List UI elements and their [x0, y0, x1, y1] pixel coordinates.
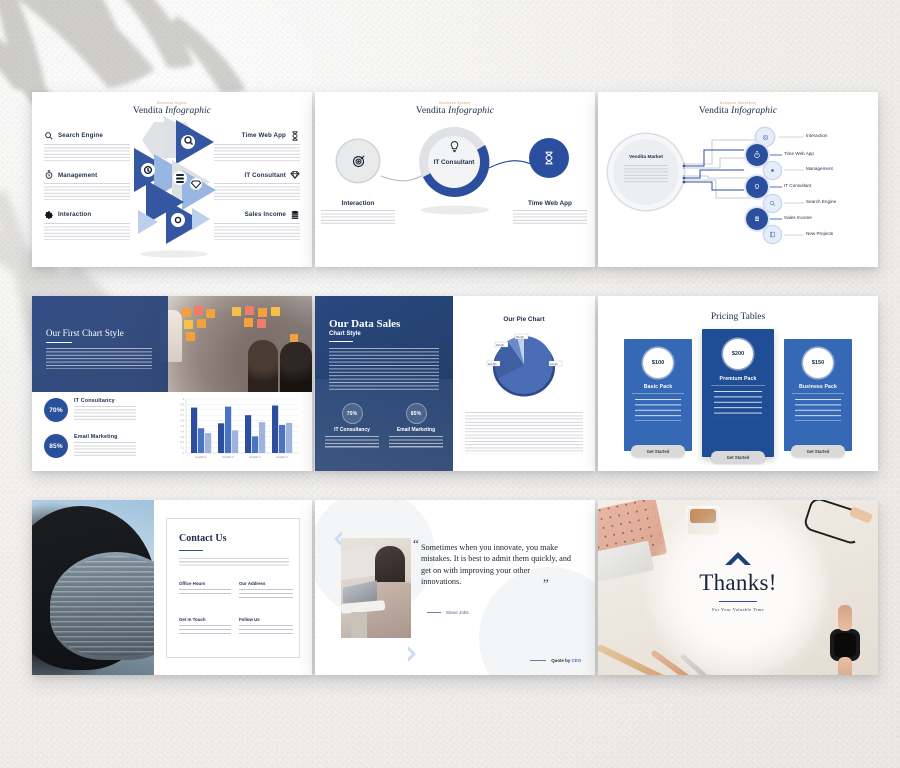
network-label-new-projects: New Projects [806, 231, 833, 236]
feature-sales-income[interactable]: Sales Income [214, 209, 300, 240]
stat-label: IT Consultancy [325, 427, 379, 433]
svg-text:0: 0 [183, 452, 185, 455]
close-quote-icon: ” [543, 576, 549, 592]
title-underline [329, 341, 353, 342]
slide3-brand-italic: Infographic [731, 106, 777, 116]
plan-divider [792, 393, 844, 394]
svg-text:0.9: 0.9 [181, 403, 185, 406]
stat-body-text [74, 406, 136, 422]
contact-title: Contact Us [179, 533, 289, 544]
gear-icon [44, 210, 54, 220]
stat-it-consultancy[interactable]: 70% IT Consultancy [325, 404, 379, 448]
contact-block-follow-us: Follow Us [239, 617, 293, 637]
stat-body-text [325, 436, 379, 448]
block-lines [179, 589, 231, 597]
stat-it-consultancy[interactable]: 70% IT Consultancy [44, 398, 136, 422]
slide-network-map[interactable]: Business Marketing Vendita Infographic V… [598, 92, 878, 267]
architecture-photo [32, 500, 154, 675]
feature-search-engine[interactable]: Search Engine [44, 130, 130, 161]
svg-text:0.6: 0.6 [181, 420, 185, 423]
pricing-card-premium[interactable]: $200 Premium Pack Get Started [702, 329, 774, 457]
slide3-eyebrow: Business Marketing [598, 101, 878, 105]
pie-chart-svg: 1st Qtr 2nd Qtr 3rd Qtr 4th Qtr [465, 327, 583, 401]
stat-body-text [74, 442, 136, 458]
magnifier-icon [769, 200, 776, 207]
network-label-it-consultant: IT Consultant [784, 183, 811, 188]
feature-label: Search Engine [58, 132, 103, 139]
network-node-new-projects[interactable] [764, 226, 781, 243]
magnifier-icon [44, 131, 54, 141]
node-body-text [321, 210, 395, 226]
pricing-title: Pricing Tables [598, 312, 878, 322]
node-leader-line [784, 202, 804, 204]
block-lines [239, 589, 293, 601]
network-node-sales-income[interactable] [746, 208, 768, 230]
svg-text:1st Qtr: 1st Qtr [550, 362, 558, 366]
quote-footer: Quote by CEO [530, 658, 581, 663]
server-icon [753, 215, 761, 223]
block-heading: Follow Us [239, 617, 293, 622]
stat-value: 70% [44, 398, 68, 422]
feature-label: Interaction [58, 211, 91, 218]
pricing-card-basic[interactable]: $100 Basic Pack Get Started [624, 339, 692, 451]
svg-text:0.1: 0.1 [181, 447, 185, 450]
process-label-interaction: Interaction [319, 200, 397, 226]
feature-body-text [44, 144, 130, 161]
stat-value: 85% [407, 404, 426, 423]
quote-block: “ Sometimes when you innovate, you make … [421, 542, 571, 588]
node-leader-line [784, 234, 804, 236]
feature-management[interactable]: Management [44, 170, 130, 201]
feature-interaction[interactable]: Interaction [44, 209, 130, 240]
svg-text:Graphic 2: Graphic 2 [222, 455, 234, 459]
server-icon [290, 210, 300, 220]
contact-card: Contact Us Office Hours Our Address Get … [166, 518, 300, 658]
feature-body-text [44, 183, 130, 200]
network-label-sales-income: Sales Income [784, 215, 812, 220]
network-node-time-web-app[interactable] [746, 144, 768, 166]
plan-name: Basic Pack [624, 384, 692, 390]
block-lines [179, 625, 231, 637]
arrow-infographic-artwork [124, 114, 220, 259]
thanks-block: Thanks! For Your Valuable Time [598, 552, 878, 612]
quote-author: Steve Jobs [427, 610, 469, 615]
svg-text:0.3: 0.3 [181, 436, 185, 439]
network-hub[interactable]: Vendita Market [608, 134, 684, 210]
price-amount: $150 [803, 348, 833, 378]
contact-block-our-address: Our Address [239, 581, 293, 601]
slide3-title: Vendita Infographic [598, 106, 878, 116]
slide-infographic-arrows[interactable]: Business Digital Vendita Infographic Sea… [32, 92, 312, 267]
svg-text:0.2: 0.2 [181, 441, 185, 444]
node-body-text [513, 210, 587, 226]
svg-text:Graphic 4: Graphic 4 [276, 455, 288, 459]
contact-block-get-in-touch: Get In Touch [179, 617, 231, 637]
slide-bar-chart[interactable]: Our First Chart Style 70% IT Consultancy… [32, 296, 312, 471]
svg-text:0.4: 0.4 [181, 430, 185, 433]
contact-intro-text [179, 558, 289, 566]
contact-block-office-hours: Office Hours [179, 581, 231, 597]
contact-header: Contact Us [179, 533, 289, 566]
slide1-eyebrow: Business Digital [32, 101, 312, 105]
book-icon [769, 231, 776, 238]
slide-circles-process[interactable]: Business System Vendita Infographic Inte… [315, 92, 595, 267]
network-node-search-engine[interactable] [764, 195, 781, 212]
svg-text:Graphic 1: Graphic 1 [195, 455, 207, 459]
price-amount: $200 [723, 339, 753, 369]
author-name: Steve Jobs [446, 610, 469, 615]
feature-time-web-app[interactable]: Time Web App [214, 130, 300, 161]
svg-text:4th Qtr: 4th Qtr [516, 335, 524, 339]
thanks-title: Thanks! [598, 570, 878, 596]
person-photo [341, 538, 411, 638]
svg-text:Graphic 3: Graphic 3 [249, 455, 261, 459]
slide4-title: Our First Chart Style [46, 328, 152, 338]
stat-email-marketing[interactable]: 85% Email Marketing [44, 434, 136, 458]
thanks-underline [719, 601, 757, 602]
stat-email-marketing[interactable]: 85% Email Marketing [389, 404, 443, 448]
slide1-right-features: Time Web App IT Consultant S [214, 130, 300, 249]
plan-name: Business Pack [784, 384, 852, 390]
slide1-left-features: Search Engine Management Int [44, 130, 130, 249]
slide-thanks[interactable]: Thanks! For Your Valuable Time [598, 500, 878, 675]
title-underline [46, 342, 72, 343]
data-sales-panel: Our Data Sales Chart Style 70% IT Consul… [315, 296, 453, 471]
stat-label: Email Marketing [389, 427, 443, 433]
thanks-subtitle: For Your Valuable Time [598, 607, 878, 612]
block-heading: Office Hours [179, 581, 231, 586]
quote-by-accent: CEO [571, 658, 581, 663]
get-started-button[interactable]: Get Started [631, 445, 685, 457]
block-heading: Our Address [239, 581, 293, 586]
svg-text:0.7: 0.7 [181, 414, 185, 417]
feature-label: IT Consultant [245, 172, 286, 179]
stat-value: 85% [44, 434, 68, 458]
slide4-title-block: Our First Chart Style [46, 328, 152, 369]
open-quote-icon: “ [413, 536, 419, 552]
slide-quote[interactable]: “ Sometimes when you innovate, you make … [315, 500, 595, 675]
slide5-body-text [329, 348, 439, 390]
diamond-icon [290, 170, 300, 180]
get-started-button[interactable]: Get Started [791, 445, 845, 457]
hub-body-text [624, 165, 668, 183]
node-leader-line [770, 154, 782, 156]
plan-features [635, 399, 681, 421]
stopwatch-icon [753, 151, 761, 159]
slide3-brand: Vendita [699, 106, 729, 116]
slide-grid: Business Digital Vendita Infographic Sea… [32, 92, 878, 675]
plan-features [795, 399, 841, 421]
plan-name: Premium Pack [702, 376, 774, 382]
feature-body-text [44, 223, 130, 240]
target-icon [762, 134, 769, 141]
feature-label: Management [58, 172, 97, 179]
bar-chart-svg: 00.10.2 0.30.40.5 0.60.70.8 0.91 [172, 397, 300, 461]
slide2-body-placeholder [315, 110, 595, 174]
feature-label: Time Web App [242, 132, 286, 139]
quote-by-prefix: Quote by [551, 658, 571, 663]
network-label-time-web-app: Time Web App [784, 151, 814, 156]
pricing-card-business[interactable]: $150 Business Pack Get Started [784, 339, 852, 451]
node-leader-line [784, 169, 804, 171]
slide5-subtitle: Chart Style [329, 331, 439, 337]
center-node-shadow [419, 204, 491, 216]
slide5-title: Our Data Sales [329, 318, 439, 330]
slide3-header: Business Marketing Vendita Infographic [598, 101, 878, 116]
network-label-management: Management [806, 166, 833, 171]
slide2-eyebrow: Business System [315, 101, 595, 105]
network-node-it-consultant[interactable] [746, 176, 768, 198]
pie-chart-block[interactable]: Our Pie Chart 1st Qtr 2nd Qtr 3rd Qtr 4t… [465, 316, 583, 454]
slide5-title-block: Our Data Sales Chart Style [329, 318, 439, 390]
node-label: Interaction [319, 200, 397, 207]
feature-it-consultant[interactable]: IT Consultant [214, 170, 300, 201]
svg-text:2nd Qtr: 2nd Qtr [488, 362, 497, 366]
pie-description-text [465, 412, 583, 454]
node-leader-line [770, 218, 782, 220]
bar-chart[interactable]: 00.10.2 0.30.40.5 0.60.70.8 0.91 [172, 397, 300, 461]
slide-contact-us[interactable]: Contact Us Office Hours Our Address Get … [32, 500, 312, 675]
gear-icon [769, 167, 776, 174]
stat-value: 70% [343, 404, 362, 423]
slide-pricing-tables[interactable]: Pricing Tables $100 Basic Pack Get Start… [598, 296, 878, 471]
network-label-interaction: Interaction [806, 133, 827, 138]
svg-text:0.5: 0.5 [181, 425, 185, 428]
feature-body-text [214, 223, 300, 240]
author-dash [427, 612, 441, 613]
chevron-up-icon [725, 552, 751, 566]
stat-body-text [389, 436, 443, 448]
slide4-body-text [46, 348, 152, 369]
slide-pie-chart[interactable]: Our Data Sales Chart Style 70% IT Consul… [315, 296, 595, 471]
pie-chart-title: Our Pie Chart [465, 316, 583, 323]
title-underline [179, 550, 203, 551]
hub-label: Vendita Market [608, 155, 684, 160]
node-label: Time Web App [509, 200, 591, 207]
svg-text:3rd Qtr: 3rd Qtr [496, 343, 504, 347]
quote-by-label: Quote by CEO [551, 658, 581, 663]
hourglass-icon [290, 131, 300, 141]
decor-chevron-bottom [399, 645, 417, 663]
plan-divider [632, 393, 684, 394]
node-leader-line [778, 136, 804, 138]
network-node-management[interactable] [764, 162, 781, 179]
plan-features [714, 391, 762, 418]
stopwatch-icon [44, 170, 54, 180]
block-heading: Get In Touch [179, 617, 231, 622]
process-label-time-web-app: Time Web App [509, 200, 591, 226]
get-started-button[interactable]: Get Started [711, 451, 765, 463]
node-leader-line [770, 186, 782, 188]
stat-label: Email Marketing [74, 434, 136, 440]
stat-label: IT Consultancy [74, 398, 136, 404]
feature-body-text [214, 183, 300, 200]
plan-divider [711, 385, 765, 386]
svg-text:0.8: 0.8 [181, 409, 185, 412]
bulb-icon [753, 183, 761, 191]
footer-dash [530, 660, 546, 661]
network-label-search-engine: Search Engine [806, 199, 836, 204]
feature-body-text [214, 144, 300, 161]
price-amount: $100 [643, 348, 673, 378]
feature-label: Sales Income [245, 211, 286, 218]
block-lines [239, 625, 293, 637]
svg-text:1: 1 [183, 398, 185, 401]
